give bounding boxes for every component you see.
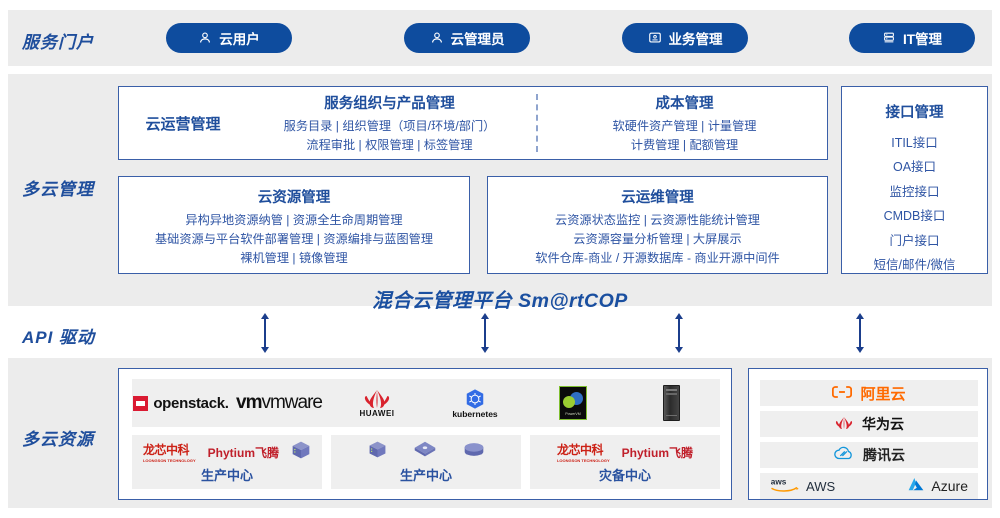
azure-label: Azure xyxy=(931,478,968,494)
cloud-operation-side-title: 云运营管理 xyxy=(119,113,247,134)
server-rack-image xyxy=(622,385,720,421)
loongson-sublabel: LOONGSON TECHNOLOGY xyxy=(143,458,196,463)
openstack-logo: openstack. xyxy=(132,395,230,412)
datacenter-production-2[interactable]: 生产中心 xyxy=(331,435,521,489)
column-line: 流程审批 | 权限管理 | 标签管理 xyxy=(247,136,532,155)
column-line: 服务目录 | 组织管理（项目/环境/部门） xyxy=(247,117,532,136)
vertical-dashed-divider xyxy=(536,94,538,152)
card-line: 异构异地资源纳管 | 资源全生命周期管理 xyxy=(119,211,469,230)
column-title: 成本管理 xyxy=(542,92,827,113)
interface-item: 监控接口 xyxy=(842,180,987,204)
loongson-sublabel: LOONGSON TECHNOLOGY xyxy=(557,458,610,463)
aws-label: AWS xyxy=(806,479,835,494)
datacenter-name: 生产中心 xyxy=(132,465,322,484)
powervm-logo: PowerVM xyxy=(524,386,622,420)
cost-management-column: 成本管理 软硬件资产管理 | 计量管理 计费管理 | 配额管理 xyxy=(542,92,827,155)
private-cloud-resources-card[interactable]: openstack. vmvmware HUAWEI xyxy=(118,368,732,500)
architecture-diagram: 服务门户 云用户 云管理员 业务管理 IT管理 多云管理 云运营管理 服务组织与… xyxy=(0,0,1000,518)
phytium-logo: Phytium飞腾 xyxy=(208,444,279,461)
phytium-logo: Phytium飞腾 xyxy=(622,444,693,461)
card-title: 云运维管理 xyxy=(488,186,827,207)
kubernetes-logo: kubernetes xyxy=(426,388,524,419)
public-cloud-label: 腾讯云 xyxy=(863,445,905,465)
portal-button-business-mgmt[interactable]: 业务管理 xyxy=(622,23,748,53)
loongson-logo: 龙芯中科 LOONGSON TECHNOLOGY xyxy=(557,441,610,463)
card-title: 云资源管理 xyxy=(119,186,469,207)
card-title: 接口管理 xyxy=(842,101,987,122)
api-driven-label: API 驱动 xyxy=(22,323,95,348)
server-cube-icon xyxy=(368,440,387,464)
datacenter-production-1[interactable]: 龙芯中科 LOONGSON TECHNOLOGY Phytium飞腾 生产中心 xyxy=(132,435,322,489)
portal-button-label: 云管理员 xyxy=(451,28,505,48)
huawei-flower-icon xyxy=(362,388,392,410)
cloud-operation-management-card[interactable]: 云运营管理 服务组织与产品管理 服务目录 | 组织管理（项目/环境/部门） 流程… xyxy=(118,86,828,160)
vmware-logo: vmvmware xyxy=(230,392,328,414)
portal-button-label: 云用户 xyxy=(219,28,260,48)
server-cube-icon xyxy=(291,440,311,465)
column-line: 计费管理 | 配额管理 xyxy=(542,136,827,155)
tencent-icon xyxy=(833,446,855,464)
public-cloud-label: 华为云 xyxy=(862,414,904,434)
public-cloud-tencentcloud[interactable]: 腾讯云 xyxy=(760,442,978,468)
card-line: 基础资源与平台软件部署管理 | 资源编排与蓝图管理 xyxy=(119,230,469,249)
aws-icon: aws xyxy=(770,476,800,496)
portal-button-cloud-user[interactable]: 云用户 xyxy=(166,23,292,53)
public-cloud-aws-azure[interactable]: aws AWS Azure xyxy=(760,473,978,499)
datacenter-disaster-recovery[interactable]: 龙芯中科 LOONGSON TECHNOLOGY Phytium飞腾 灾备中心 xyxy=(530,435,720,489)
service-product-management-column: 服务组织与产品管理 服务目录 | 组织管理（项目/环境/部门） 流程审批 | 权… xyxy=(247,92,532,155)
interface-item: 门户接口 xyxy=(842,229,987,253)
datacenter-name: 生产中心 xyxy=(331,465,521,484)
portal-button-cloud-admin[interactable]: 云管理员 xyxy=(404,23,530,53)
public-cloud-resources-card[interactable]: 阿里云 华为云 腾讯云 xyxy=(748,368,988,500)
portal-button-label: IT管理 xyxy=(903,28,942,48)
card-line: 裸机管理 | 镜像管理 xyxy=(119,249,469,268)
kubernetes-label: kubernetes xyxy=(452,410,497,419)
api-driven-band xyxy=(8,310,992,354)
public-cloud-huaweicloud[interactable]: 华为云 xyxy=(760,411,978,437)
portal-button-label: 业务管理 xyxy=(669,28,723,48)
cloud-oam-management-card[interactable]: 云运维管理 云资源状态监控 | 云资源性能统计管理 云资源容量分析管理 | 大屏… xyxy=(487,176,828,274)
interface-item: ITIL接口 xyxy=(842,131,987,155)
switch-icon xyxy=(413,440,437,464)
alicloud-icon xyxy=(832,385,852,402)
public-cloud-alicloud[interactable]: 阿里云 xyxy=(760,380,978,406)
openstack-label: openstack. xyxy=(153,395,228,412)
loongson-label: 龙芯中科 xyxy=(557,443,603,457)
bidirectional-arrow-icon xyxy=(672,313,686,358)
user-icon xyxy=(198,31,212,45)
datacenter-row: 龙芯中科 LOONGSON TECHNOLOGY Phytium飞腾 生产中心 xyxy=(132,435,720,489)
kubernetes-helm-icon xyxy=(464,388,486,410)
interface-management-card[interactable]: 接口管理 ITIL接口 OA接口 监控接口 CMDB接口 门户接口 短信/邮件/… xyxy=(841,86,988,274)
user-icon xyxy=(430,31,444,45)
platform-title: 混合云管理平台 Sm@rtCOP xyxy=(0,284,1000,313)
virtualization-logo-strip: openstack. vmvmware HUAWEI xyxy=(132,379,720,427)
datacenter-name: 灾备中心 xyxy=(530,465,720,484)
cloud-resource-management-card[interactable]: 云资源管理 异构异地资源纳管 | 资源全生命周期管理 基础资源与平台软件部署管理… xyxy=(118,176,470,274)
card-line: 软件仓库-商业 / 开源数据库 - 商业开源中间件 xyxy=(488,249,827,268)
bidirectional-arrow-icon xyxy=(853,313,867,358)
interface-item: 短信/邮件/微信 xyxy=(842,253,987,277)
public-cloud-label: 阿里云 xyxy=(860,383,905,404)
card-line: 云资源容量分析管理 | 大屏展示 xyxy=(488,230,827,249)
vmware-label: vmware xyxy=(261,392,322,413)
portal-button-it-mgmt[interactable]: IT管理 xyxy=(849,23,975,53)
column-title: 服务组织与产品管理 xyxy=(247,92,532,113)
powervm-label: PowerVM xyxy=(560,412,586,416)
server-stack-icon xyxy=(882,31,896,45)
aws-logo: aws AWS xyxy=(770,476,835,496)
database-icon xyxy=(463,442,485,463)
svg-text:aws: aws xyxy=(771,478,787,487)
column-line: 软硬件资产管理 | 计量管理 xyxy=(542,117,827,136)
huawei-logo: HUAWEI xyxy=(328,388,426,418)
huawei-icon xyxy=(834,415,854,434)
interface-item: OA接口 xyxy=(842,155,987,179)
multicloud-management-label: 多云管理 xyxy=(22,175,94,200)
monitor-icon xyxy=(648,31,662,45)
multicloud-resource-label: 多云资源 xyxy=(22,425,94,450)
service-portal-label: 服务门户 xyxy=(22,28,94,53)
loongson-label: 龙芯中科 xyxy=(143,443,189,457)
bidirectional-arrow-icon xyxy=(478,313,492,358)
bidirectional-arrow-icon xyxy=(258,313,272,358)
card-line: 云资源状态监控 | 云资源性能统计管理 xyxy=(488,211,827,230)
interface-item: CMDB接口 xyxy=(842,204,987,228)
loongson-logo: 龙芯中科 LOONGSON TECHNOLOGY xyxy=(143,441,196,463)
azure-logo: Azure xyxy=(907,477,968,495)
azure-icon xyxy=(907,477,925,495)
huawei-label: HUAWEI xyxy=(360,410,395,418)
